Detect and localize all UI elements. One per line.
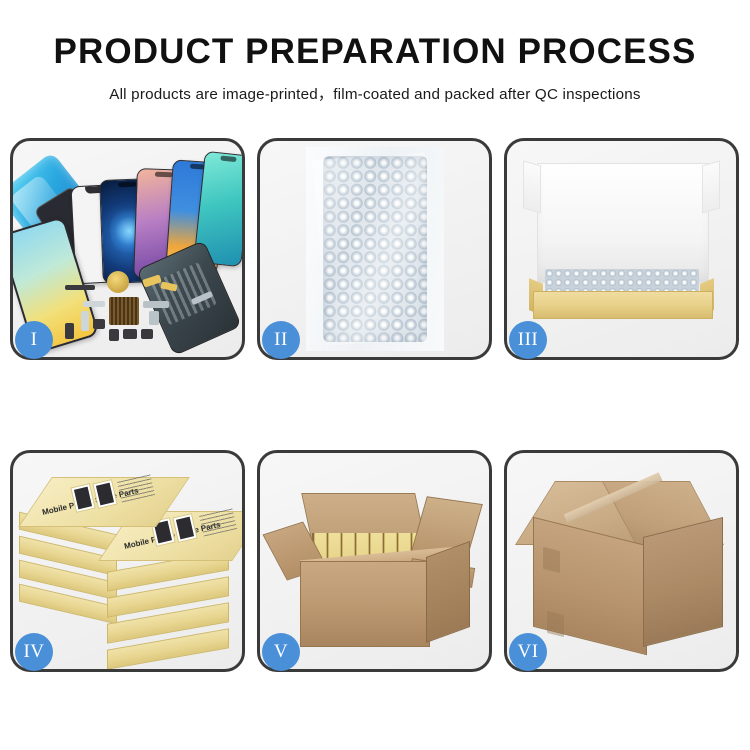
step-3-illustration	[507, 141, 736, 357]
step-badge-6: VI	[509, 633, 547, 671]
step-badge-4: IV	[15, 633, 53, 671]
step-badge-2: II	[262, 321, 300, 359]
spare-parts-group	[65, 267, 215, 353]
process-step-panel-6[interactable]: VI	[504, 450, 739, 672]
step-5-illustration	[260, 453, 489, 669]
process-step-panel-3[interactable]: III	[504, 138, 739, 360]
step-badge-1: I	[15, 321, 53, 359]
stacked-boxes-scene: Mobile Phone Spare Parts Mobile Phone Sp…	[13, 453, 242, 669]
process-step-panel-4[interactable]: Mobile Phone Spare Parts Mobile Phone Sp…	[10, 450, 245, 672]
phone-parts-scene	[13, 141, 242, 357]
sealed-carton-side-icon	[643, 517, 723, 647]
box-lid-icon	[537, 163, 709, 283]
process-step-panel-2[interactable]: II	[257, 138, 492, 360]
page-header: PRODUCT PREPARATION PROCESS All products…	[0, 0, 750, 104]
step-1-illustration	[13, 141, 242, 357]
carton-front-face-icon	[300, 561, 430, 647]
bubble-wrap-icon	[323, 156, 427, 342]
carton-filling-scene	[260, 453, 489, 669]
box-tray-front-icon	[533, 291, 713, 319]
step-badge-5: V	[262, 633, 300, 671]
carton-tab-upper-icon	[543, 547, 560, 573]
page-title: PRODUCT PREPARATION PROCESS	[0, 34, 750, 71]
bubble-wrap-scene	[260, 141, 489, 357]
box-stack-group: Mobile Phone Spare Parts Mobile Phone Sp…	[19, 469, 235, 655]
box-lid-right-flap-icon	[702, 160, 720, 213]
process-step-grid: I II III	[10, 138, 740, 672]
step-6-illustration	[507, 453, 736, 669]
page-subtitle: All products are image-printed，film-coat…	[0, 82, 750, 104]
carton-tab-lower-icon	[547, 611, 564, 637]
sealed-carton-scene	[507, 453, 736, 669]
step-4-illustration: Mobile Phone Spare Parts Mobile Phone Sp…	[13, 453, 242, 669]
step-2-illustration	[260, 141, 489, 357]
step-badge-3: III	[509, 321, 547, 359]
process-step-panel-1[interactable]: I	[10, 138, 245, 360]
box-lid-left-flap-icon	[523, 160, 541, 213]
inner-box-scene	[507, 141, 736, 357]
process-step-panel-5[interactable]: V	[257, 450, 492, 672]
carton-side-face-icon	[426, 541, 470, 643]
